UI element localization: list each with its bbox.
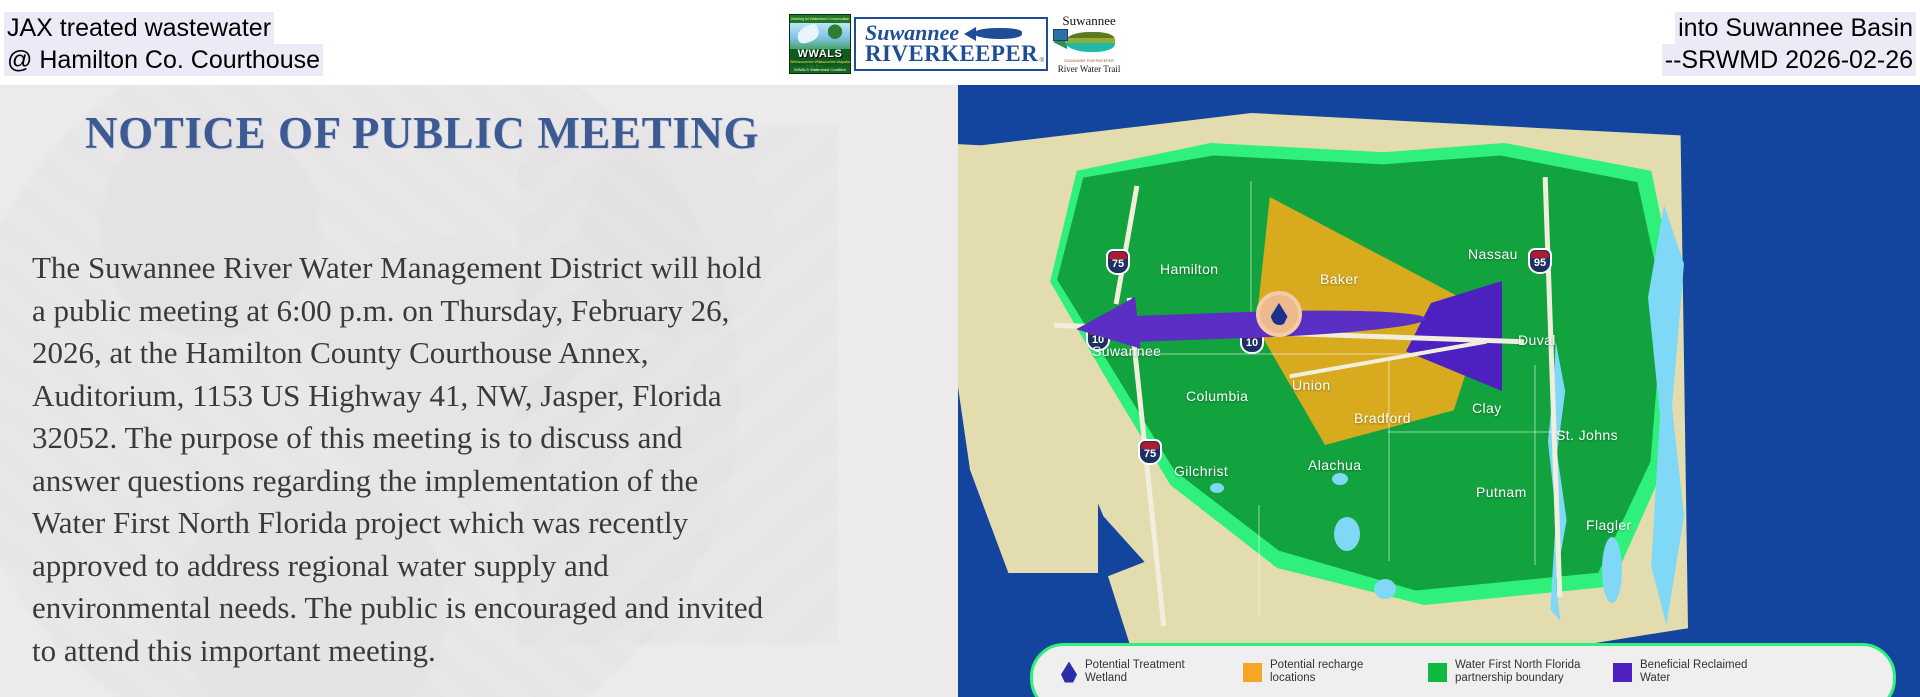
header-caption-left: JAX treated wastewater @ Hamilton Co. Co…: [4, 12, 323, 76]
water-drop-icon: [1061, 662, 1077, 683]
county-label-clay: Clay: [1472, 400, 1502, 416]
legend-label: Beneficial Reclaimed Water: [1640, 659, 1770, 685]
county-label-alachua: Alachua: [1308, 457, 1361, 473]
county-label-bradford: Bradford: [1354, 410, 1411, 426]
notice-title: NOTICE OF PUBLIC MEETING: [85, 107, 759, 159]
water-trail-logo-line2: River Water Trail: [1058, 64, 1121, 74]
water-first-north-florida-map: 75 10 10 95 75 Hamilton Baker Nassau Suw…: [958, 85, 1920, 697]
riverkeeper-logo-line1: Suwannee: [865, 23, 959, 43]
lake-rowell: [1210, 483, 1224, 493]
logo-group: Working for Watershed Conservation WWALS…: [789, 13, 1127, 75]
county-label-putnam: Putnam: [1476, 484, 1527, 500]
crescent-lake: [1602, 537, 1622, 603]
header-caption-right-line2: --SRWMD 2026-02-26: [1662, 44, 1916, 76]
lake-ocean-pond: [1332, 473, 1348, 485]
tree-icon: [826, 24, 844, 46]
header-bar: JAX treated wastewater @ Hamilton Co. Co…: [0, 0, 1920, 85]
legend-label: Water First North Florida partnership bo…: [1455, 659, 1585, 685]
lake-santa-fe: [1334, 517, 1360, 551]
county-border-line: [1534, 365, 1536, 565]
purple-swatch-icon: [1613, 663, 1632, 682]
wwals-logo: Working for Watershed Conservation WWALS…: [789, 14, 851, 74]
main-content: NOTICE OF PUBLIC MEETING The Suwannee Ri…: [0, 85, 1920, 697]
county-label-flagler: Flagler: [1586, 517, 1632, 533]
county-label-hamilton: Hamilton: [1160, 261, 1218, 277]
lake-jacksonville: [1374, 579, 1396, 599]
legend-item-recharge-locations: Potential recharge locations: [1243, 659, 1400, 685]
interstate-shield-95: 95: [1528, 248, 1552, 274]
county-label-columbia: Columbia: [1186, 388, 1248, 404]
riverkeeper-logo-line1-row: Suwannee: [865, 23, 1038, 43]
county-label-duval: Duval: [1518, 332, 1556, 348]
legend-label: Potential Treatment Wetland: [1085, 659, 1215, 685]
suwannee-riverkeeper-logo: Suwannee RIVERKEEPER ®: [854, 17, 1048, 71]
water-trail-logo-line1: Suwannee: [1062, 14, 1115, 28]
county-label-suwannee: Suwannee: [1092, 343, 1161, 359]
interstate-shield-75: 75: [1138, 439, 1162, 465]
bass-fish-icon: [1053, 29, 1125, 57]
potential-treatment-wetland-marker: [1256, 291, 1302, 337]
county-label-union: Union: [1292, 377, 1331, 393]
county-label-st-johns: St. Johns: [1556, 427, 1618, 443]
legend-item-reclaimed-water: Beneficial Reclaimed Water: [1613, 659, 1770, 685]
county-border-line: [1388, 431, 1568, 433]
county-label-nassau: Nassau: [1468, 246, 1518, 262]
wwals-logo-bottom-text: WWALS Watershed Coalition: [790, 66, 850, 73]
water-trail-logo-caption: SUWANNEE RIVERKEEPER: [1064, 59, 1114, 63]
header-caption-left-line1: JAX treated wastewater: [4, 12, 274, 44]
county-border-line: [1388, 361, 1390, 561]
suwannee-river-water-trail-logo: Suwannee SUWANNEE RIVERKEEPER River Wate…: [1051, 14, 1127, 74]
header-caption-right-line1: into Suwannee Basin: [1675, 12, 1916, 44]
riverkeeper-logo-line2: RIVERKEEPER: [865, 43, 1038, 65]
interstate-shield-75: 75: [1106, 249, 1130, 275]
legend-item-partnership-boundary: Water First North Florida partnership bo…: [1428, 659, 1585, 685]
fish-icon: [964, 26, 1026, 41]
legend-item-treatment-wetland: Potential Treatment Wetland: [1061, 659, 1215, 685]
map-legend: Potential Treatment Wetland Potential re…: [1030, 643, 1896, 697]
orange-swatch-icon: [1243, 663, 1262, 682]
county-border-line: [1258, 505, 1260, 615]
county-label-gilchrist: Gilchrist: [1174, 463, 1228, 479]
notice-body-text: The Suwannee River Water Management Dist…: [32, 247, 772, 672]
header-caption-right: into Suwannee Basin --SRWMD 2026-02-26: [1662, 12, 1916, 76]
legend-label: Potential recharge locations: [1270, 659, 1400, 685]
green-swatch-icon: [1428, 663, 1447, 682]
registered-mark-icon: ®: [1040, 58, 1044, 64]
wwals-logo-top-text: Working for Watershed Conservation: [790, 15, 850, 23]
water-drop-icon: [1271, 303, 1288, 325]
public-meeting-notice-document: NOTICE OF PUBLIC MEETING The Suwannee Ri…: [0, 85, 958, 697]
header-caption-left-line2: @ Hamilton Co. Courthouse: [4, 44, 323, 76]
county-label-baker: Baker: [1320, 271, 1359, 287]
